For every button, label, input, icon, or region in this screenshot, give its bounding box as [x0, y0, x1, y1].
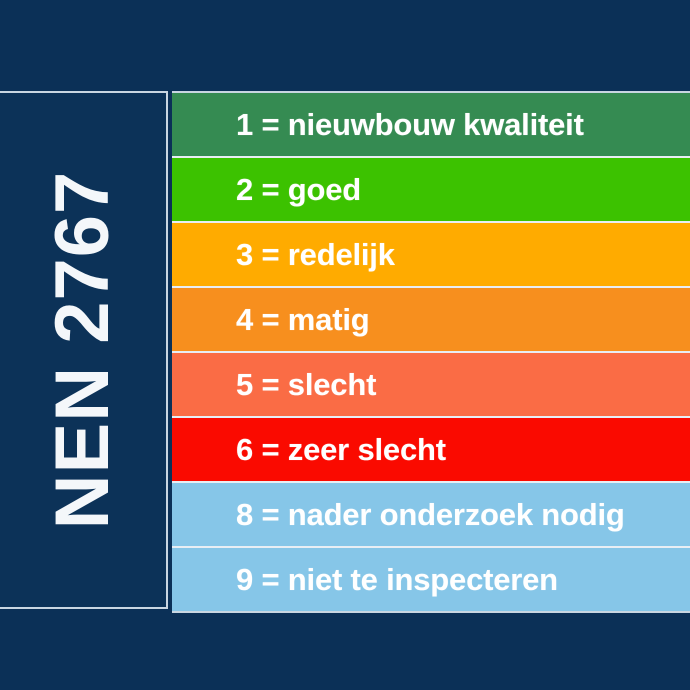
condition-scale-list: 1 = nieuwbouw kwaliteit 2 = goed 3 = red…: [172, 91, 690, 613]
list-item: 1 = nieuwbouw kwaliteit: [172, 91, 690, 158]
scale-row-text: 8 = nader onderzoek nodig: [172, 497, 625, 533]
scale-score: 2: [236, 172, 253, 207]
scale-separator: =: [261, 172, 279, 207]
list-item: 9 = niet te inspecteren: [172, 546, 690, 613]
scale-score: 8: [236, 497, 253, 532]
scale-score: 3: [236, 237, 253, 272]
scale-label: goed: [288, 172, 361, 207]
scale-label: zeer slecht: [288, 432, 446, 467]
list-item: 6 = zeer slecht: [172, 416, 690, 483]
scale-separator: =: [261, 107, 279, 142]
scale-row-text: 9 = niet te inspecteren: [172, 562, 558, 598]
scale-separator: =: [261, 302, 279, 337]
scale-row-text: 2 = goed: [172, 172, 361, 208]
scale-separator: =: [261, 497, 279, 532]
scale-separator: =: [261, 432, 279, 467]
scale-score: 5: [236, 367, 253, 402]
nen-2767-condition-scale-poster: NEN 2767 1 = nieuwbouw kwaliteit 2 = goe…: [0, 0, 690, 690]
scale-score: 6: [236, 432, 253, 467]
scale-separator: =: [261, 237, 279, 272]
page-title: NEN 2767: [45, 171, 121, 530]
scale-row-text: 4 = matig: [172, 302, 369, 338]
scale-row-text: 5 = slecht: [172, 367, 376, 403]
scale-label: redelijk: [288, 237, 395, 272]
list-item: 3 = redelijk: [172, 221, 690, 288]
list-item: 5 = slecht: [172, 351, 690, 418]
scale-label: nader onderzoek nodig: [288, 497, 625, 532]
scale-label: matig: [288, 302, 370, 337]
scale-score: 1: [236, 107, 253, 142]
scale-score: 4: [236, 302, 253, 337]
list-item: 8 = nader onderzoek nodig: [172, 481, 690, 548]
scale-separator: =: [261, 562, 279, 597]
scale-label: nieuwbouw kwaliteit: [288, 107, 584, 142]
scale-label: niet te inspecteren: [288, 562, 558, 597]
scale-score: 9: [236, 562, 253, 597]
list-item: 4 = matig: [172, 286, 690, 353]
scale-label: slecht: [288, 367, 376, 402]
scale-row-text: 3 = redelijk: [172, 237, 395, 273]
scale-separator: =: [261, 367, 279, 402]
title-panel: NEN 2767: [0, 91, 168, 609]
list-item: 2 = goed: [172, 156, 690, 223]
scale-row-text: 1 = nieuwbouw kwaliteit: [172, 107, 584, 143]
scale-row-text: 6 = zeer slecht: [172, 432, 446, 468]
